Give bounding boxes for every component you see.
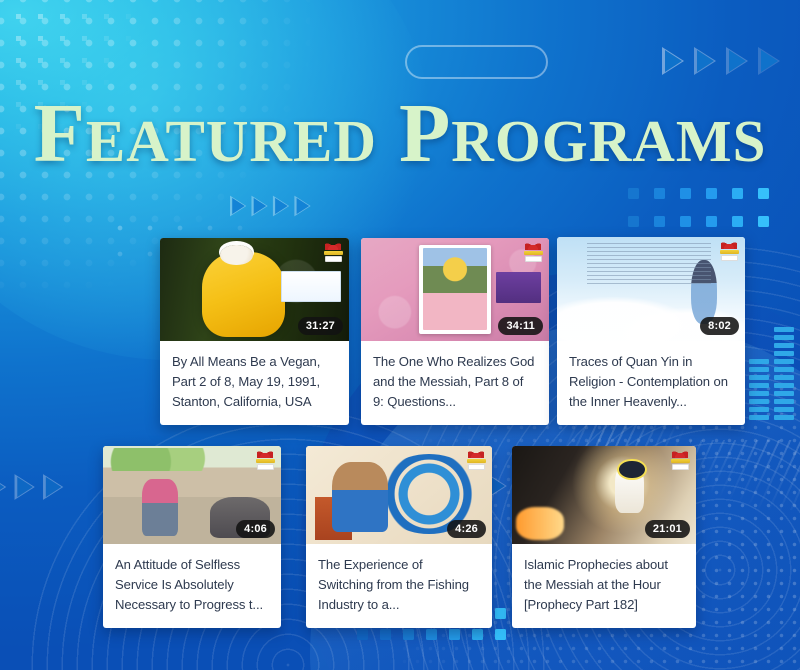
program-card-body: Islamic Prophecies about the Messiah at …: [512, 544, 696, 628]
play-triangle-icon: [758, 47, 780, 75]
play-triangle-icon: [294, 196, 310, 217]
program-card-body: The One Who Realizes God and the Messiah…: [361, 341, 549, 425]
channel-logo-icon: [465, 450, 487, 470]
duration-badge: 34:11: [498, 317, 543, 335]
square-dot-grid-right: [628, 188, 784, 244]
program-thumbnail[interactable]: 21:01: [512, 446, 696, 544]
equalizer-column: [774, 327, 794, 420]
channel-logo-icon: [522, 242, 544, 262]
program-thumbnail[interactable]: 4:06: [103, 446, 281, 544]
play-triangles-middle: [230, 196, 311, 217]
program-thumbnail[interactable]: 31:27: [160, 238, 349, 341]
channel-logo-icon: [322, 242, 344, 262]
duration-badge: 8:02: [700, 317, 739, 335]
play-triangle-icon: [230, 196, 246, 217]
play-triangle-icon: [251, 196, 267, 217]
play-triangle-icon: [662, 47, 684, 75]
channel-logo-icon: [718, 241, 740, 261]
program-thumbnail[interactable]: 34:11: [361, 238, 549, 341]
program-card-body: By All Means Be a Vegan, Part 2 of 8, Ma…: [160, 341, 349, 425]
play-triangles-top: [662, 47, 780, 75]
featured-programs-banner: Featured Programs 31:27 By All Means Be …: [0, 0, 800, 670]
duration-badge: 4:26: [447, 520, 486, 538]
program-card[interactable]: 4:06 An Attitude of Selfless Service Is …: [103, 446, 281, 628]
program-card-body: Traces of Quan Yin in Religion - Contemp…: [557, 341, 745, 425]
program-thumbnail[interactable]: 4:26: [306, 446, 492, 544]
page-title: Featured Programs: [0, 92, 800, 176]
program-card[interactable]: 8:02 Traces of Quan Yin in Religion - Co…: [557, 237, 745, 425]
program-card-body: An Attitude of Selfless Service Is Absol…: [103, 544, 281, 628]
duration-badge: 4:06: [236, 520, 275, 538]
program-title[interactable]: Traces of Quan Yin in Religion - Contemp…: [569, 352, 733, 412]
diagonal-hatch-icon-b: [690, 440, 800, 510]
play-triangle-icon: [726, 47, 748, 75]
program-thumbnail[interactable]: 8:02: [557, 237, 745, 341]
program-title[interactable]: The Experience of Switching from the Fis…: [318, 555, 480, 615]
program-title[interactable]: An Attitude of Selfless Service Is Absol…: [115, 555, 269, 615]
program-title[interactable]: By All Means Be a Vegan, Part 2 of 8, Ma…: [172, 352, 337, 412]
play-triangle-icon: [43, 474, 63, 500]
program-card[interactable]: 21:01 Islamic Prophecies about the Messi…: [512, 446, 696, 628]
play-triangle-icon: [15, 474, 35, 500]
play-triangles-left: [0, 474, 63, 500]
play-triangle-icon: [694, 47, 716, 75]
program-card[interactable]: 4:26 The Experience of Switching from th…: [306, 446, 492, 628]
program-title[interactable]: The One Who Realizes God and the Messiah…: [373, 352, 537, 412]
duration-badge: 21:01: [645, 520, 690, 538]
program-card[interactable]: 31:27 By All Means Be a Vegan, Part 2 of…: [160, 238, 349, 425]
channel-logo-icon: [669, 450, 691, 470]
program-card[interactable]: 34:11 The One Who Realizes God and the M…: [361, 238, 549, 425]
duration-badge: 31:27: [298, 317, 343, 335]
rounded-pill-outline-icon: [405, 45, 548, 79]
play-triangle-icon: [0, 474, 6, 500]
play-triangle-icon: [273, 196, 289, 217]
program-title[interactable]: Islamic Prophecies about the Messiah at …: [524, 555, 684, 615]
channel-logo-icon: [254, 450, 276, 470]
program-card-body: The Experience of Switching from the Fis…: [306, 544, 492, 628]
equalizer-column: [749, 359, 769, 420]
